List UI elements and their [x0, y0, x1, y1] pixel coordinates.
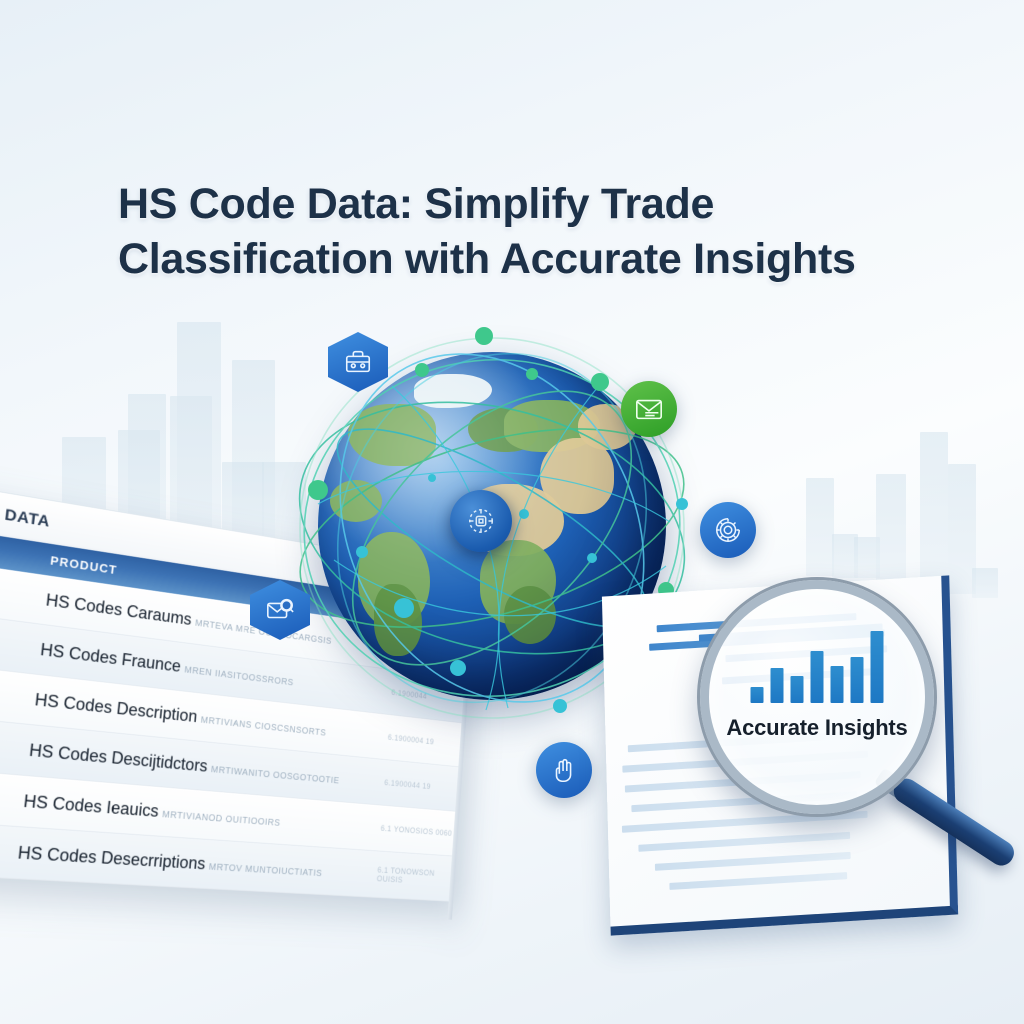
- cell-product-title: HS Codes Caraums: [45, 590, 192, 628]
- cell-product-sub: MRTIVIANS CIOSCSNSORTS: [200, 715, 326, 738]
- cell-product: HS Codes Desecrriptions MRTOV MUNTOIUCTI…: [17, 842, 378, 883]
- cell-product-title: HS Codes Desecrriptions: [17, 842, 206, 872]
- magnifier-lens[interactable]: Accurate Insights: [700, 580, 934, 814]
- cell-code: S CODE3: [0, 673, 36, 709]
- chart-bar: [871, 631, 884, 703]
- cell-product-sub: MRTIWANITO OOSGOTOOTIE: [211, 764, 340, 785]
- page-title: HS Code Data: Simplify Trade Classificat…: [118, 177, 948, 287]
- cell-code: ODE7: [0, 569, 47, 609]
- poster-canvas: HS Code Data: Simplify Trade Classificat…: [0, 0, 1024, 1024]
- cell-product-title: HS Codes Fraunce: [40, 640, 182, 676]
- report-document: Accurate Insights: [596, 576, 1024, 966]
- insights-label: Accurate Insights: [709, 715, 925, 741]
- insights-bar-chart: [751, 631, 884, 703]
- chart-bar: [751, 687, 764, 703]
- page-title-line-1: HS Code Data: Simplify Trade: [118, 177, 948, 232]
- cell-product-sub: MRTOV MUNTOIUCTIATIS: [208, 862, 322, 879]
- cell-product-sub: MREN IIASITOOSSRORS: [184, 665, 294, 688]
- chart-bar: [811, 651, 824, 703]
- page-title-line-2: Classification with Accurate Insights: [118, 232, 948, 287]
- cell-number: 6.1 YONOSIOS 0060: [380, 824, 453, 838]
- cell-product-sub: MRTIVIANOD OUITIOOIRS: [162, 809, 281, 828]
- cell-number: 6.1 TONOWSON OUISIS: [376, 865, 450, 887]
- cell-code: HS CODE2: [0, 833, 19, 862]
- envelope-document-icon[interactable]: [621, 381, 677, 437]
- cell-code: CODE3: [0, 621, 42, 659]
- chart-bar: [771, 668, 784, 703]
- cell-product-title: HS Codes Descijtidctors: [28, 740, 208, 775]
- chart-bar: [791, 676, 804, 703]
- gear-spiral-icon[interactable]: [700, 502, 756, 558]
- network-chip-icon[interactable]: [450, 490, 512, 552]
- chart-bar: [851, 657, 864, 703]
- cell-number: 6.1900004 19: [388, 733, 461, 749]
- cell-product-title: HS Codes Ieauics: [23, 791, 160, 820]
- cell-number: 6.1900044 19: [384, 778, 457, 793]
- cell-code: HS CODE3: [0, 779, 25, 811]
- cell-product-title: HS Codes Description: [34, 690, 198, 726]
- hand-icon[interactable]: [536, 742, 592, 798]
- cell-code: HS CODE3: [0, 726, 30, 760]
- chart-bar: [831, 666, 844, 703]
